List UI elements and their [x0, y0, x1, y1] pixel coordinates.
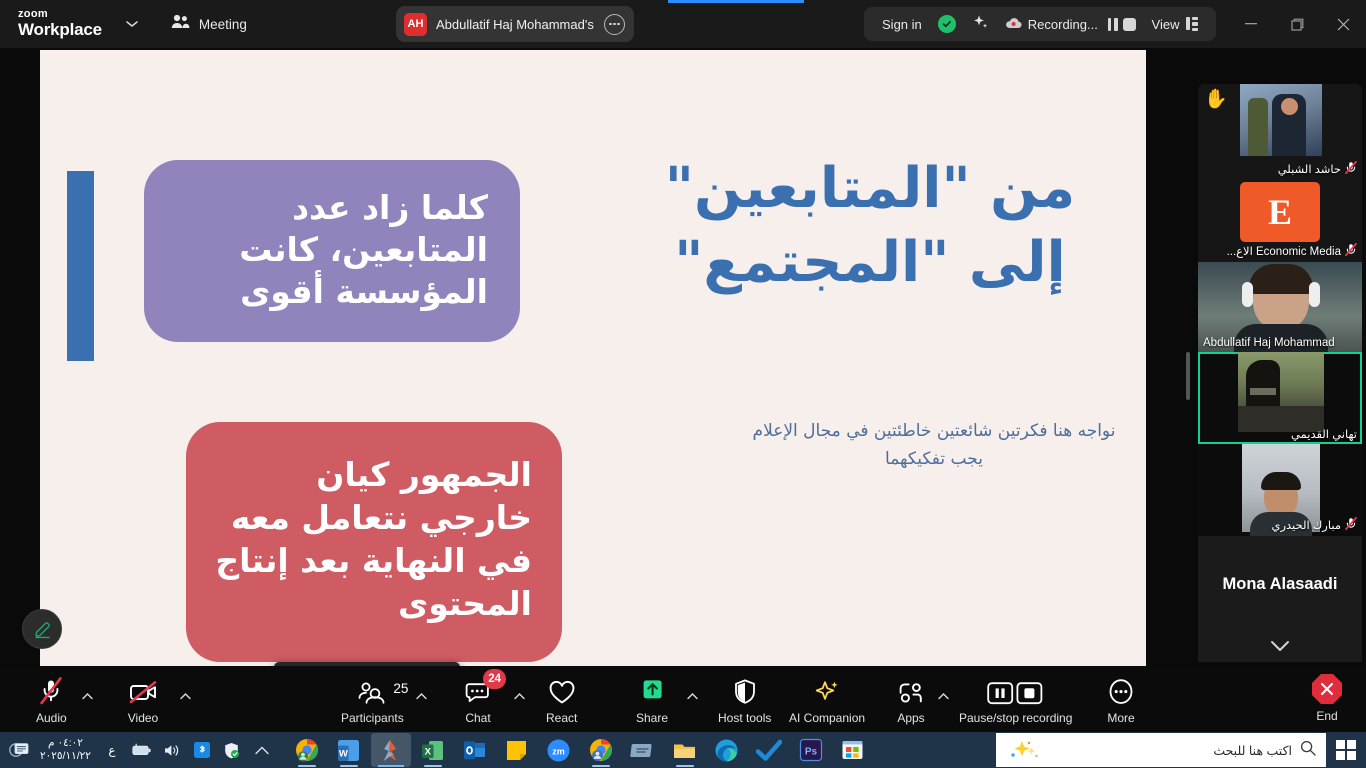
taskbar-tray: ٠٤:٠٢ م ٢٠٢٥/١١/٢٢ ع	[0, 733, 277, 767]
clock-time: ٠٤:٠٢ م	[40, 737, 91, 750]
taskbar-app-zoom-window[interactable]	[371, 733, 411, 767]
maximize-button[interactable]	[1274, 0, 1320, 48]
active-speaker-name: Mona Alasaadi	[1223, 575, 1338, 594]
taskbar-app-chrome-profile[interactable]	[287, 733, 327, 767]
slide-card-purple: كلما زاد عدد المتابعين، كانت المؤسسة أقو…	[144, 160, 520, 342]
notification-center-icon[interactable]	[4, 733, 34, 767]
taskbar-app-snipping-tool[interactable]	[623, 733, 663, 767]
participants-icon: 25	[357, 674, 387, 706]
participant-name: حاشد الشبلي	[1278, 162, 1341, 176]
meeting-tab-label: Meeting	[199, 17, 247, 32]
svg-text:W: W	[339, 748, 348, 759]
video-button[interactable]: Video	[121, 671, 165, 727]
bluetooth-icon[interactable]	[187, 733, 217, 767]
video-tile[interactable]: Abdullatif Haj Mohammad	[1198, 262, 1362, 352]
shared-screen-tab-title: Abdullatif Haj Mohammad's scre	[436, 17, 595, 32]
search-icon	[1300, 740, 1316, 761]
taskbar-app-buttons: W X	[287, 733, 873, 767]
participants-group-icon	[171, 14, 190, 34]
shield-check-icon	[938, 15, 956, 33]
pause-stop-recording-label: Pause/stop recording	[959, 711, 1072, 725]
taskbar-app-edge[interactable]	[707, 733, 747, 767]
filmstrip-resize-handle[interactable]	[1186, 352, 1190, 400]
chat-icon: 24	[463, 674, 493, 706]
start-button[interactable]	[1326, 732, 1366, 768]
participants-options-chevron-down-icon[interactable]	[412, 684, 430, 708]
slide-subtitle: نواجه هنا فكرتين شائعتين خاطئتين في مجال…	[744, 418, 1124, 473]
more-dots-icon	[1106, 674, 1136, 706]
share-button[interactable]: Share	[630, 671, 674, 727]
mic-muted-icon	[1345, 517, 1357, 533]
mic-muted-icon	[1345, 243, 1357, 259]
share-label: Share	[636, 711, 668, 725]
video-options-chevron-down-icon[interactable]	[176, 684, 194, 708]
windows-search-placeholder: اكتب هنا للبحث	[1213, 743, 1292, 758]
audio-options-chevron-down-icon[interactable]	[78, 684, 96, 708]
filmstrip-scroll-down-button[interactable]	[1198, 630, 1362, 662]
volume-icon[interactable]	[157, 733, 187, 767]
participant-name: Abdullatif Haj Mohammad	[1203, 337, 1335, 349]
participant-name: Economic Media الاع...	[1227, 244, 1341, 258]
video-tile[interactable]: ✋ حاشد الشبلي	[1198, 84, 1362, 180]
taskbar-app-outlook[interactable]	[455, 733, 495, 767]
copilot-sparkle-icon	[1008, 739, 1042, 766]
svg-text:zm: zm	[553, 746, 566, 756]
apps-icon	[896, 674, 926, 706]
end-label: End	[1316, 709, 1337, 723]
svg-text:Ps: Ps	[805, 747, 818, 758]
taskbar-clock[interactable]: ٠٤:٠٢ م ٢٠٢٥/١١/٢٢	[40, 737, 91, 763]
encryption-status-button[interactable]	[930, 11, 964, 37]
taskbar-app-chrome-second[interactable]	[581, 733, 621, 767]
active-tab-indicator	[668, 0, 804, 3]
annotate-pencil-button[interactable]	[22, 609, 62, 649]
meeting-tab[interactable]: Meeting	[160, 9, 258, 39]
taskbar-app-word[interactable]: W	[329, 733, 369, 767]
view-button[interactable]: View	[1144, 13, 1206, 36]
chat-button[interactable]: 24 Chat	[457, 671, 499, 727]
more-label: More	[1107, 711, 1134, 725]
ai-companion-label: AI Companion	[789, 711, 865, 725]
shared-screen-stage: كلما زاد عدد المتابعين، كانت المؤسسة أقو…	[0, 48, 1190, 666]
participants-label: Participants	[341, 711, 404, 725]
chat-options-chevron-down-icon[interactable]	[510, 684, 528, 708]
taskbar-app-todo[interactable]	[749, 733, 789, 767]
raised-hand-icon: ✋	[1204, 90, 1228, 109]
slide-cards: كلما زاد عدد المتابعين، كانت المؤسسة أقو…	[40, 50, 1146, 668]
ai-companion-status-button[interactable]	[964, 10, 997, 38]
avatar: AH	[404, 13, 427, 36]
end-call-icon	[1312, 674, 1342, 704]
sign-in-button[interactable]: Sign in	[874, 13, 930, 36]
shield-icon	[732, 674, 758, 706]
windows-search-box[interactable]: اكتب هنا للبحث	[996, 733, 1326, 767]
battery-icon[interactable]	[127, 733, 157, 767]
host-tools-button[interactable]: Host tools	[712, 671, 777, 727]
more-button[interactable]: More	[1100, 671, 1142, 727]
window-controls	[1228, 0, 1366, 48]
taskbar-app-photoshop[interactable]: Ps	[791, 733, 831, 767]
pause-stop-icon	[987, 674, 1045, 706]
end-meeting-button[interactable]: End	[1306, 671, 1348, 726]
ai-companion-button[interactable]: AI Companion	[783, 671, 871, 727]
recording-label: Recording...	[1028, 17, 1098, 32]
zoom-brand-line2: Workplace	[18, 21, 102, 39]
active-speaker-tile[interactable]: Mona Alasaadi	[1198, 536, 1362, 632]
participants-button[interactable]: 25 Participants	[335, 671, 410, 727]
presentation-slide: كلما زاد عدد المتابعين، كانت المؤسسة أقو…	[40, 50, 1146, 668]
clock-date: ٢٠٢٥/١١/٢٢	[40, 750, 91, 763]
react-button[interactable]: React	[540, 671, 583, 727]
layout-icon	[1186, 17, 1199, 31]
participant-video	[1238, 352, 1324, 432]
mic-muted-icon	[1345, 161, 1357, 177]
video-tile[interactable]: E Economic Media الاع...	[1198, 180, 1362, 262]
cloud-record-icon	[1005, 17, 1022, 32]
zoom-logo: zoom Workplace	[18, 9, 102, 38]
more-dots-icon[interactable]	[604, 14, 625, 35]
pause-recording-icon[interactable]	[1108, 18, 1118, 31]
taskbar-app-sticky-notes[interactable]	[497, 733, 537, 767]
participants-count: 25	[393, 681, 408, 696]
video-tile[interactable]: تهاني القديمي	[1198, 352, 1362, 444]
apps-options-chevron-down-icon[interactable]	[934, 684, 952, 708]
windows-logo-icon	[1336, 740, 1356, 760]
sparkle-icon	[972, 14, 989, 34]
taskbar-app-excel[interactable]: X	[413, 733, 453, 767]
view-label: View	[1152, 17, 1180, 32]
participant-avatar: E	[1240, 182, 1320, 242]
language-indicator[interactable]: ع	[97, 733, 127, 767]
minimize-button[interactable]	[1228, 0, 1274, 48]
taskbar-app-file-explorer[interactable]	[665, 733, 705, 767]
windows-taskbar: ٠٤:٠٢ م ٢٠٢٥/١١/٢٢ ع	[0, 732, 1366, 768]
share-screen-icon	[637, 674, 667, 706]
taskbar-app-zoom[interactable]: zm	[539, 733, 579, 767]
sign-in-label: Sign in	[882, 17, 922, 32]
shared-screen-tab[interactable]: AH Abdullatif Haj Mohammad's scre	[396, 6, 634, 42]
sparkle-icon	[812, 674, 842, 706]
react-label: React	[546, 711, 577, 725]
participants-filmstrip: ✋ حاشد الشبلي E Economic Media الاع...	[1198, 84, 1362, 662]
audio-button[interactable]: Audio	[30, 671, 73, 727]
share-options-chevron-down-icon[interactable]	[683, 684, 701, 708]
pause-stop-recording-button[interactable]: Pause/stop recording	[953, 671, 1078, 727]
microphone-muted-icon	[38, 674, 64, 706]
slide-heading: من "المتابعين" إلى "المجتمع"	[620, 152, 1120, 300]
slide-card-red: الجمهور كيان خارجي نتعامل معه في النهاية…	[186, 422, 562, 662]
participant-video	[1240, 84, 1322, 156]
participant-name: مبارك الحيدري	[1271, 518, 1341, 532]
svg-text:X: X	[425, 746, 432, 757]
audio-label: Audio	[36, 711, 67, 725]
zoom-meeting-window: zoom Workplace Meeting AH Abdullatif Haj…	[0, 0, 1366, 768]
heart-icon	[547, 674, 577, 706]
chat-label: Chat	[465, 711, 490, 725]
language-label: ع	[108, 743, 115, 757]
taskbar-app-microsoft-store[interactable]	[833, 733, 873, 767]
status-cluster: Sign in Recording...	[864, 7, 1216, 41]
close-button[interactable]	[1320, 0, 1366, 48]
host-tools-label: Host tools	[718, 711, 771, 725]
window-title-bar: zoom Workplace Meeting AH Abdullatif Haj…	[0, 0, 1366, 48]
meeting-control-bar: Audio Video	[0, 666, 1366, 732]
apps-button[interactable]: Apps	[890, 671, 932, 727]
security-shield-icon[interactable]	[217, 733, 247, 767]
participant-name: تهاني القديمي	[1291, 427, 1357, 441]
camera-muted-icon	[127, 674, 159, 706]
apps-label: Apps	[897, 711, 924, 725]
video-label: Video	[128, 711, 158, 725]
video-tile[interactable]: مبارك الحيدري	[1198, 444, 1362, 536]
chevron-down-icon[interactable]	[118, 10, 146, 38]
stop-recording-icon[interactable]	[1123, 18, 1136, 31]
recording-status[interactable]: Recording...	[997, 13, 1144, 36]
show-hidden-icons-chevron-up-icon[interactable]	[247, 733, 277, 767]
chat-unread-badge: 24	[483, 669, 506, 689]
